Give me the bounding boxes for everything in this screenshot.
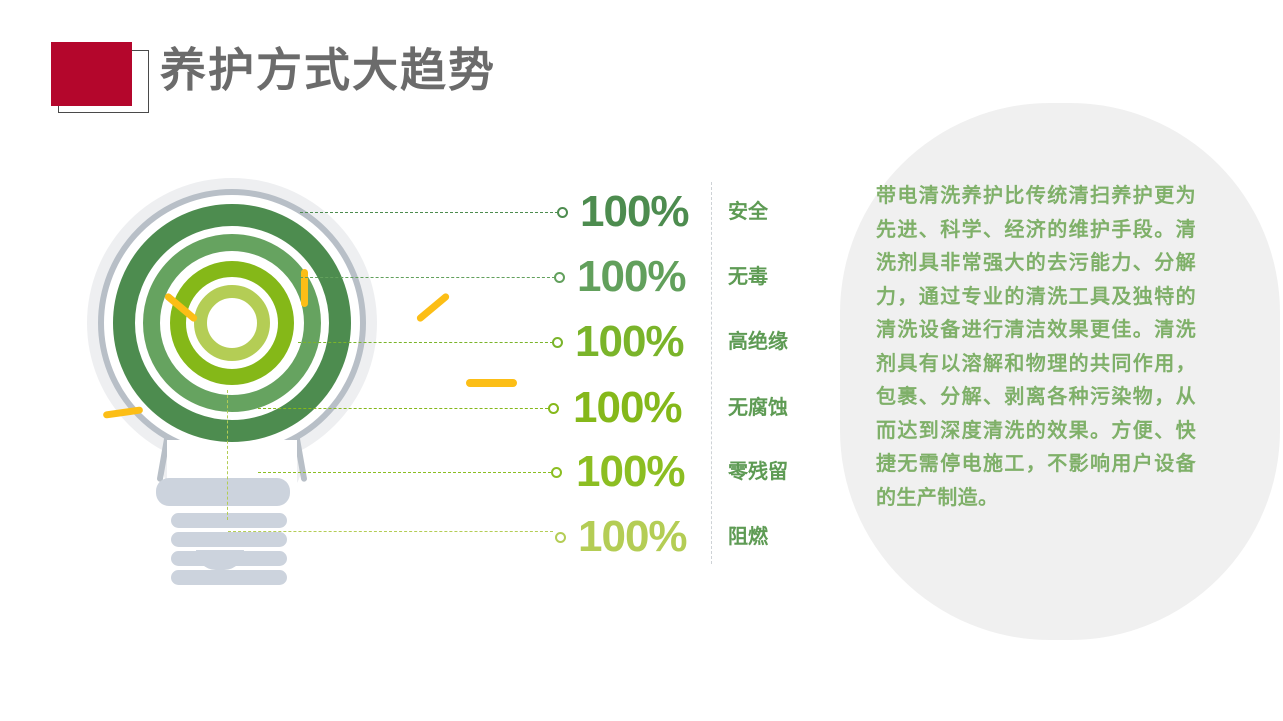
connector-line-5	[258, 472, 551, 473]
connector-marker-1	[557, 207, 568, 218]
connector-marker-6	[555, 532, 566, 543]
stat-label-noncorrosive: 无腐蚀	[728, 398, 788, 418]
description-text: 带电清洗养护比传统清扫养护更为先进、科学、经济的维护手段。清洗剂具非常强大的去污…	[876, 180, 1196, 515]
connector-marker-2	[554, 272, 565, 283]
stat-label-safety: 安全	[728, 202, 768, 222]
stat-value: 100%	[575, 320, 684, 364]
connector-marker-3	[552, 337, 563, 348]
connector-line-6	[228, 531, 553, 532]
stat-value: 100%	[573, 386, 682, 430]
connector-line-3	[298, 342, 553, 343]
connector-marker-4	[548, 403, 559, 414]
stats-divider	[711, 182, 712, 564]
stat-label-nontoxic: 无毒	[728, 267, 768, 287]
connector-marker-5	[551, 467, 562, 478]
connector-line-4	[258, 408, 548, 409]
connector-line-1	[300, 212, 558, 213]
stat-label-high-insulation: 高绝缘	[728, 332, 788, 352]
connector-line-2	[300, 277, 555, 278]
stat-label-zero-residue: 零残留	[728, 462, 788, 482]
slide-canvas: 养护方式大趋势 100%	[0, 0, 1283, 721]
stat-value: 100%	[578, 515, 687, 559]
stat-value: 100%	[576, 450, 685, 494]
stat-value: 100%	[577, 255, 686, 299]
stat-value: 100%	[580, 190, 689, 234]
stat-label-flame-retardant: 阻燃	[728, 527, 768, 547]
